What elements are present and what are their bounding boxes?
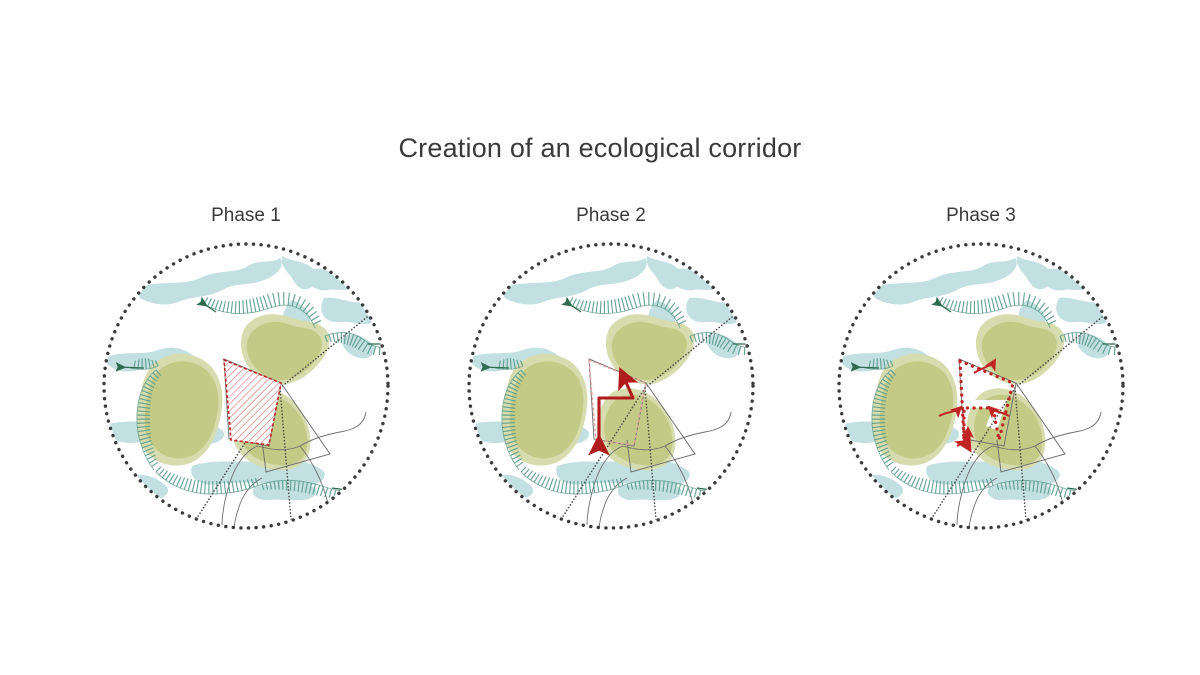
comb-tick [538,475,543,484]
comb-tick [952,481,953,494]
comb-tick [337,333,338,343]
comb-tick [531,473,536,481]
comb-tick [698,334,700,343]
comb-tick [580,300,583,309]
comb-tick [334,490,336,498]
comb-tick [943,299,947,306]
comb-tick [1048,321,1056,325]
comb-tick [1029,481,1030,492]
comb-tick [1044,311,1052,317]
comb-tick [995,297,999,310]
comb-tick [954,301,957,311]
comb-tick [622,298,625,312]
phase-3-clipgroup [837,256,1123,532]
comb-tick [998,296,1003,309]
comb-tick [313,321,321,325]
comb-tick [246,300,247,313]
comb-tick [263,296,268,309]
comb-tick [1008,293,1011,306]
comb-tick [196,480,198,493]
comb-tick [250,299,252,313]
comb-tick [625,297,629,310]
comb-tick [215,300,218,309]
comb-tick [227,301,229,312]
comb-tick [180,478,184,489]
comb-tick [1064,489,1066,498]
comb-tick [502,423,515,424]
comb-tick [931,480,933,493]
comb-tick [545,478,549,489]
comb-tick [608,300,609,313]
comb-tick [311,316,319,321]
comb-tick [534,474,539,482]
comb-tick [176,476,181,486]
comb-tick [561,480,563,493]
comb-tick [514,459,521,463]
comb-tick [333,334,335,343]
comb-tick [231,301,232,313]
comb-tick [569,297,573,304]
comb-tick [702,333,703,343]
comb-tick [1003,294,1007,307]
comb-tick [211,300,215,308]
comb-tick [988,298,991,312]
phase-1-panel[interactable] [96,240,396,540]
comb-tick [273,293,276,306]
comb-tick [615,299,617,313]
comb-tick [970,301,971,313]
comb-tick [521,467,526,472]
comb-tick [517,462,523,466]
comb-tick [628,296,633,309]
comb-tick [671,307,678,314]
comb-tick [584,301,587,311]
comb-tick [978,300,979,313]
comb-tick [638,293,641,306]
phase-1-clipgroup [102,256,388,532]
comb-tick [674,311,682,317]
comb-tick [159,469,164,475]
phase-2-map[interactable] [461,240,761,540]
comb-tick [524,469,529,475]
figure-root: Creation of an ecological corridor Phase… [0,0,1200,675]
comb-tick [219,301,222,311]
comb-tick [1038,303,1045,312]
comb-tick [235,301,236,313]
comb-tick [911,476,916,486]
comb-tick [169,474,174,482]
comb-tick [257,298,260,312]
comb-tick [659,481,660,492]
comb-tick [294,481,295,492]
comb-tick [588,301,590,312]
comb-tick [946,300,950,308]
comb-tick [278,481,279,490]
comb-tick [306,307,313,314]
comb-tick [166,473,171,481]
comb-tick [149,459,156,463]
comb-tick [699,490,701,498]
comb-tick [981,300,982,313]
comb-tick [939,297,943,304]
comb-tick [557,480,560,492]
phase-2-panel[interactable] [461,240,761,540]
comb-tick [1052,485,1055,495]
comb-tick [709,491,710,498]
comb-tick [208,299,212,306]
comb-tick [992,298,995,312]
comb-tick [985,299,987,313]
comb-tick [950,300,953,309]
comb-tick [685,487,688,496]
comb-tick [329,489,331,498]
comb-tick [596,301,597,313]
comb-tick [156,467,161,472]
comb-tick [192,480,195,492]
comb-tick [894,469,899,475]
comb-tick [541,476,546,486]
comb-tick [678,321,686,325]
comb-tick [592,301,594,312]
phase-3-panel[interactable] [831,240,1131,540]
comb-tick [694,489,696,498]
comb-tick [891,467,896,472]
comb-tick [549,478,553,489]
phase-2-clipgroup [467,256,753,532]
comb-tick [320,487,323,496]
comb-tick [137,423,150,424]
comb-tick [927,480,930,492]
phase-3-label: Phase 3 [881,205,1081,227]
comb-tick [962,301,964,312]
comb-tick [253,298,256,312]
comb-tick [278,292,280,305]
comb-tick [904,474,909,482]
comb-tick [1069,490,1071,498]
comb-tick [915,478,919,489]
comb-tick [966,301,967,313]
comb-tick [152,462,158,466]
page-title: Creation of an ecological corridor [0,133,1200,164]
comb-tick [897,471,902,478]
comb-tick [676,316,684,321]
comb-tick [1041,307,1048,314]
comb-tick [633,294,637,307]
phase-1-label: Phase 1 [146,205,346,227]
comb-tick [309,311,317,317]
phase-3-map[interactable] [831,240,1131,540]
comb-tick [260,297,264,310]
phase-1-map[interactable] [96,240,396,540]
comb-tick [923,479,926,491]
comb-tick [872,423,885,424]
comb-tick [618,298,621,312]
comb-tick [1079,491,1080,498]
comb-tick [884,459,891,463]
comb-tick [643,481,644,490]
comb-tick [268,294,272,307]
comb-tick [573,299,577,306]
comb-tick [184,478,188,489]
comb-tick [1013,481,1014,490]
comb-tick [527,471,532,478]
comb-tick [204,297,208,304]
comb-tick [344,491,345,498]
comb-tick [682,485,685,495]
comb-tick [887,462,893,466]
comb-tick [303,303,310,312]
comb-tick [188,479,191,491]
phase-2-label: Phase 2 [511,205,711,227]
comb-tick [582,481,583,494]
comb-tick [901,473,906,481]
comb-tick [958,301,960,312]
comb-tick [1072,333,1073,343]
comb-tick [162,471,167,478]
comb-tick [908,475,913,484]
comb-tick [600,301,601,313]
comb-tick [1068,334,1070,343]
comb-tick [1046,316,1054,321]
comb-tick [611,300,612,313]
comb-tick [217,481,218,494]
comb-tick [553,479,556,491]
comb-tick [668,303,675,312]
comb-tick [919,478,923,489]
comb-tick [1055,487,1058,496]
comb-tick [643,292,645,305]
comb-tick [173,475,178,484]
comb-tick [223,301,225,312]
comb-tick [1013,292,1015,305]
comb-tick [317,485,320,495]
comb-tick [243,300,244,313]
comb-tick [576,300,580,308]
